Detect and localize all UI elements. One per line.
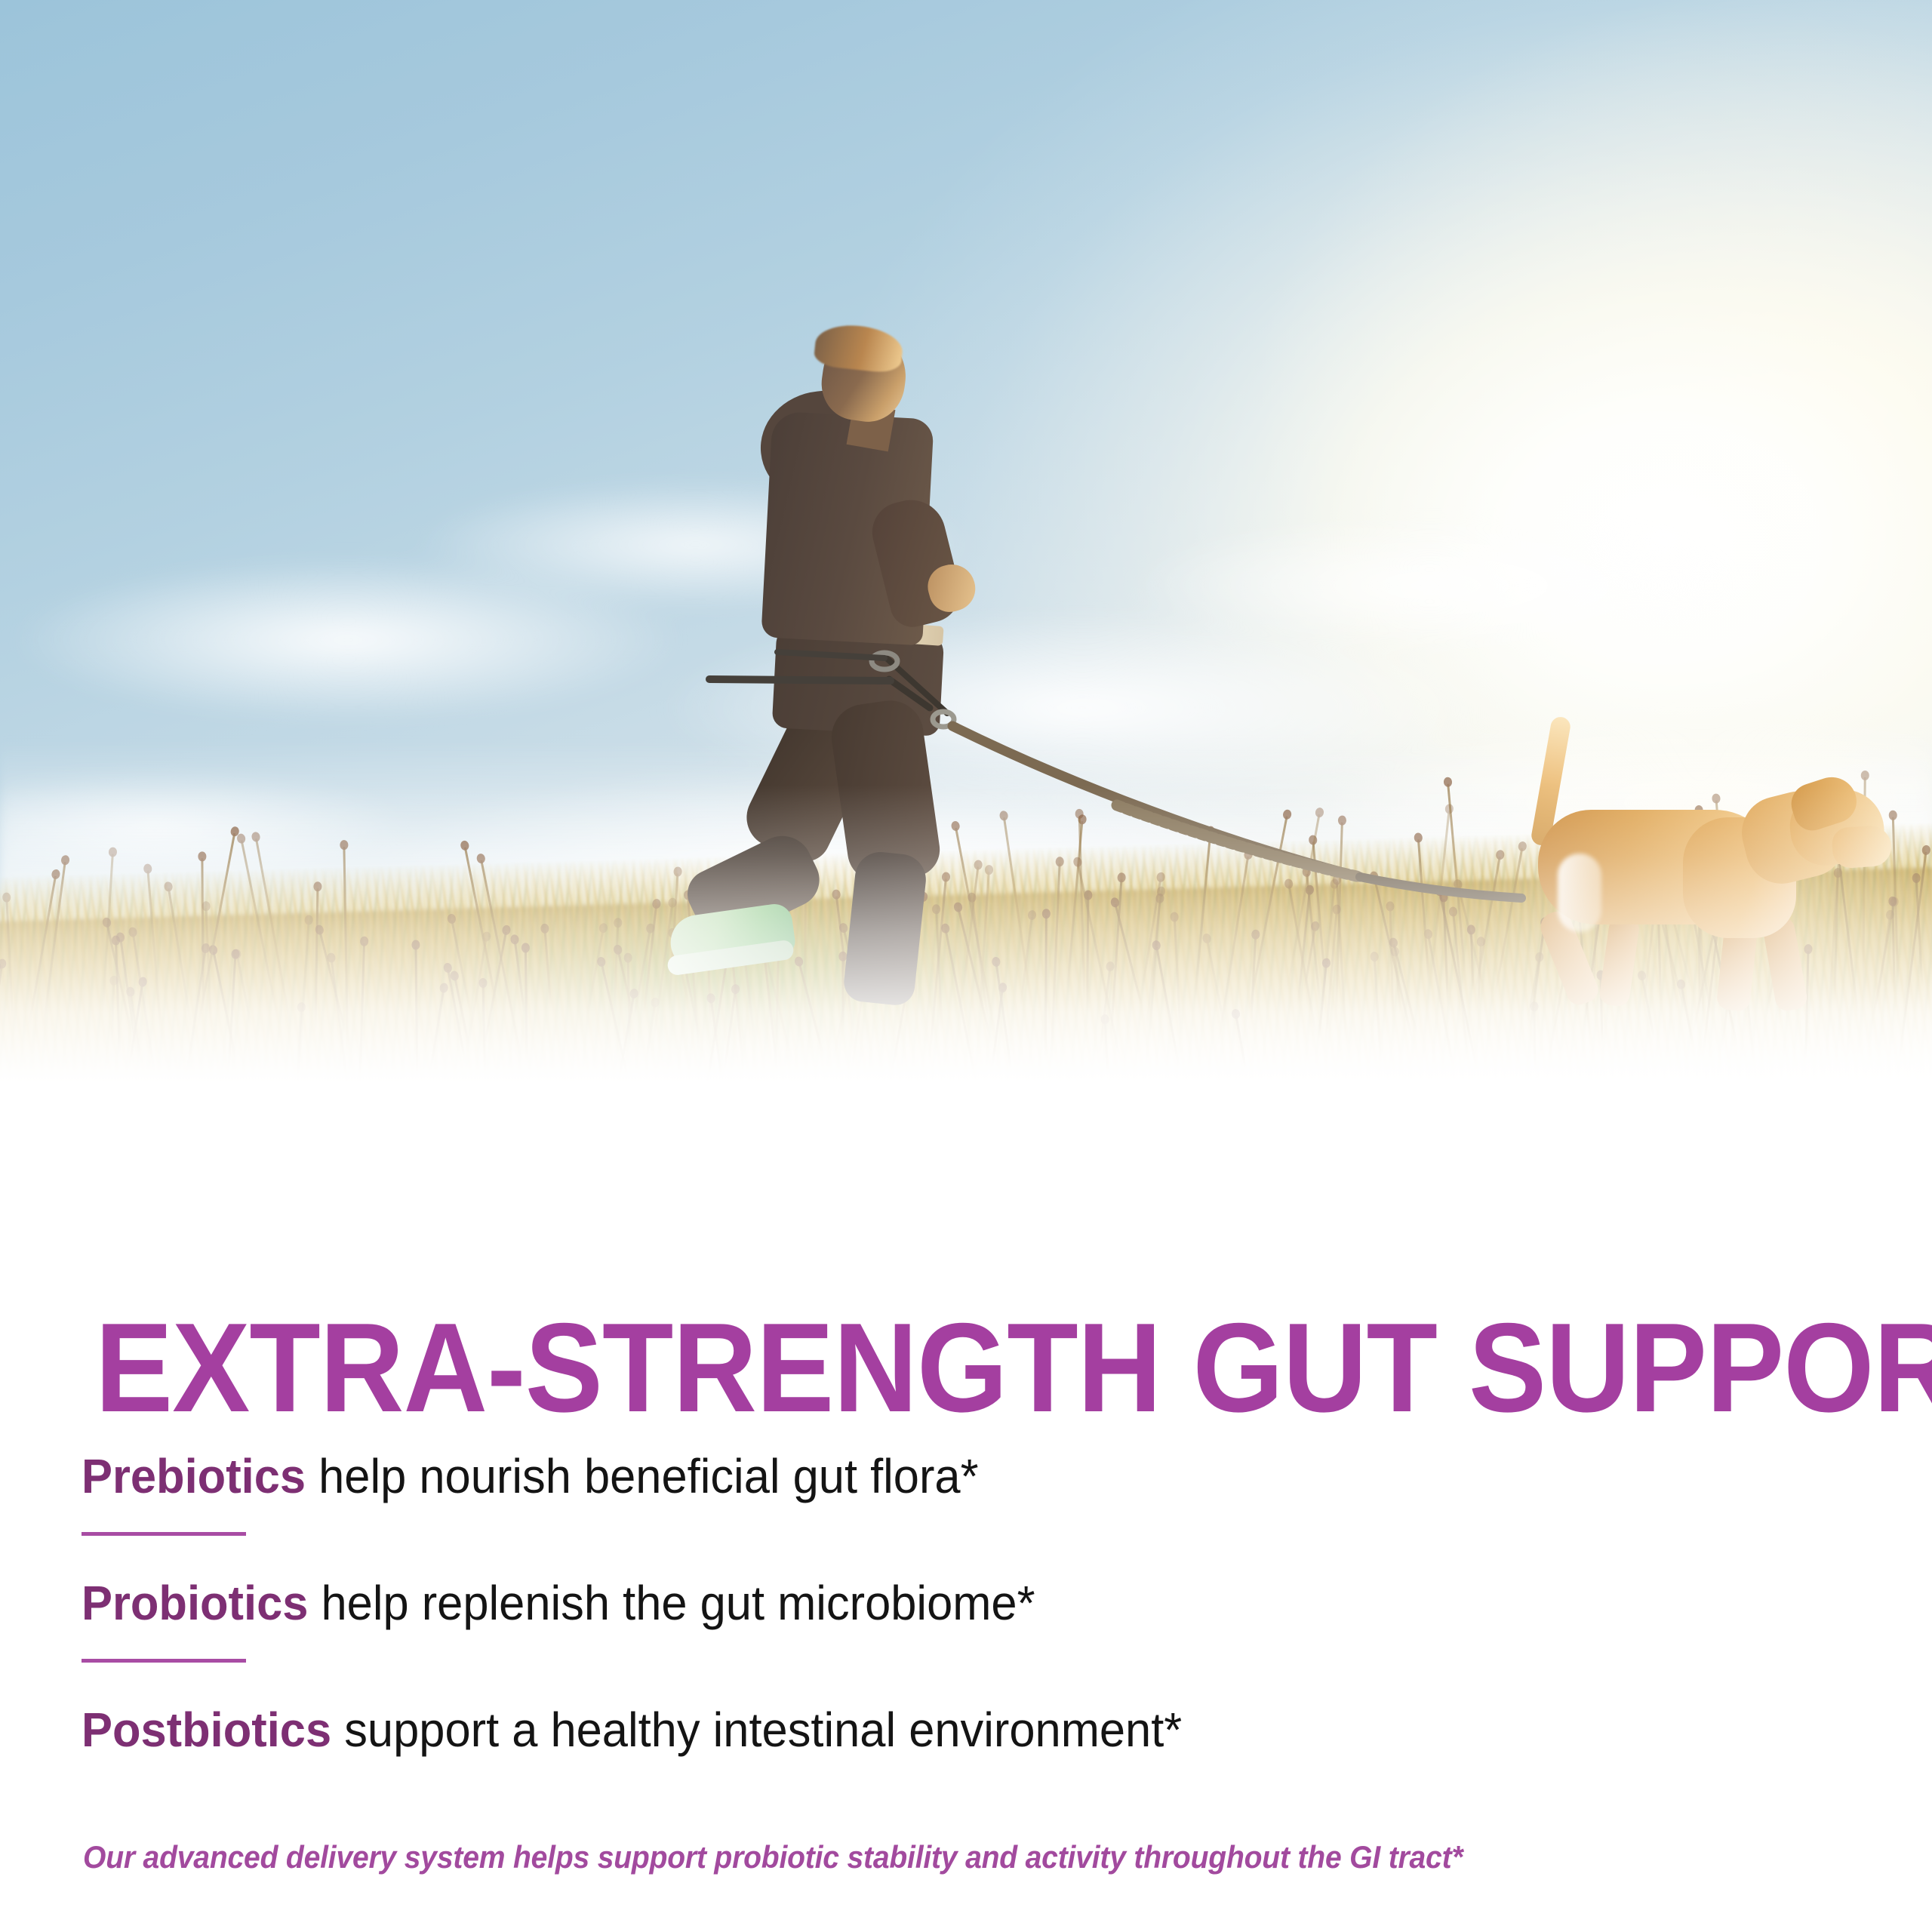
- reed-stalk: [1078, 816, 1086, 1009]
- benefit-line-probiotics: Probiotics help replenish the gut microb…: [82, 1579, 1035, 1627]
- reed-stalk: [1193, 833, 1211, 1001]
- product-benefit-poster: EXTRA-STRENGTH GUT SUPPORT Prebiotics he…: [0, 0, 1932, 1932]
- dog-muzzle: [1831, 824, 1893, 869]
- reed-stalk: [1235, 1016, 1247, 1070]
- reed-stalk: [1417, 839, 1430, 986]
- page-title: EXTRA-STRENGTH GUT SUPPORT: [95, 1304, 1932, 1431]
- reed-stalk: [358, 943, 365, 1096]
- reed-stalk: [842, 958, 844, 1030]
- reed-stalk: [415, 946, 419, 1085]
- reed-stalk: [1392, 944, 1418, 1037]
- reed-stalk: [1104, 1021, 1109, 1075]
- reed-stalk: [1050, 863, 1061, 1065]
- benefit-line-postbiotics: Postbiotics support a healthy intestinal…: [82, 1706, 1182, 1754]
- benefit-term: Prebiotics: [82, 1449, 306, 1503]
- reed-stalk: [1173, 918, 1181, 1036]
- reed-stalk: [5, 900, 14, 1031]
- reed-stalk: [1374, 958, 1382, 1063]
- runner-figure: [702, 325, 1019, 928]
- dog-white-marking: [1558, 854, 1601, 932]
- reed-stalk: [1427, 936, 1454, 1069]
- reed-stalk: [0, 966, 2, 1055]
- benefit-term: Probiotics: [82, 1576, 308, 1630]
- reed-stalk: [1470, 932, 1474, 991]
- benefit-divider: [82, 1532, 246, 1536]
- benefit-copy-block: EXTRA-STRENGTH GUT SUPPORT Prebiotics he…: [0, 1177, 1932, 1932]
- reed-stalk: [429, 989, 445, 1075]
- benefit-divider: [82, 1659, 246, 1663]
- reed-stalk: [544, 931, 552, 1010]
- benefit-term: Postbiotics: [82, 1703, 331, 1757]
- benefit-line-prebiotics: Prebiotics help nourish beneficial gut f…: [82, 1452, 979, 1500]
- reed-stalk: [1044, 915, 1048, 1061]
- reed-stalk: [318, 931, 347, 1035]
- reed-stalk: [1206, 940, 1226, 1030]
- delivery-system-footnote: Our advanced delivery system helps suppo…: [83, 1841, 1463, 1873]
- reed-stalk: [945, 931, 977, 1083]
- reed-stalk: [235, 955, 251, 1026]
- reed-stalk: [147, 870, 163, 1040]
- reed-stalk: [111, 983, 115, 1044]
- reed-stalk: [314, 888, 318, 1033]
- benefit-description: help replenish the gut microbiome*: [308, 1576, 1035, 1630]
- hero-photo: [0, 0, 1932, 1177]
- dog-figure: [1494, 721, 1887, 1023]
- reed-stalk: [798, 963, 825, 1057]
- benefit-description: help nourish beneficial gut flora*: [306, 1449, 978, 1503]
- benefit-description: support a healthy intestinal environment…: [331, 1703, 1182, 1757]
- reed-stalk: [586, 930, 604, 1020]
- reed-stalk: [723, 990, 737, 1072]
- reed-stalk: [614, 924, 620, 1010]
- reed-stalk: [168, 888, 192, 1027]
- reed-stalk: [525, 949, 528, 1060]
